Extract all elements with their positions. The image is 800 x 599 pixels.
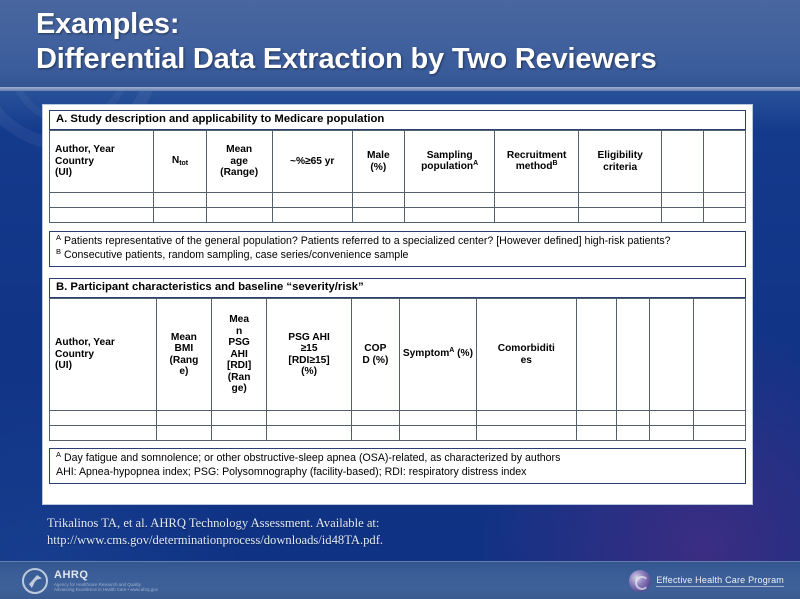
table-b-header-row: Author, Year Country (UI) Mean BMI (Rang… xyxy=(50,299,746,411)
hdr-line: Author, Year xyxy=(55,144,115,155)
table-cell xyxy=(352,193,404,208)
table-cell xyxy=(351,411,399,426)
hdr-text: Symptom xyxy=(403,348,449,359)
hdr-superscript: A xyxy=(473,160,478,167)
table-cell xyxy=(154,193,206,208)
table-a-footnotes: A Patients representative of the general… xyxy=(49,231,746,267)
table-cell xyxy=(267,411,352,426)
table-a-col-mean-age: Mean age (Range) xyxy=(206,131,272,193)
hdr-line: (UI) xyxy=(55,360,72,371)
hdr-line: (Rang xyxy=(169,355,198,366)
hdr-line: (%) xyxy=(370,162,386,173)
table-b-col-mean-psg-ahi: Mea n PSG AHI [RDI] (Ran ge) xyxy=(212,299,267,411)
table-a-col-blank-1 xyxy=(662,131,704,193)
table-row xyxy=(50,411,746,426)
table-a-section-title: A. Study description and applicability t… xyxy=(49,110,746,130)
hdr-line: D (%) xyxy=(362,355,388,366)
hdr-line: Country xyxy=(55,349,94,360)
table-cell xyxy=(272,193,352,208)
table-cell xyxy=(50,411,157,426)
table-a-col-male: Male (%) xyxy=(352,131,404,193)
footer-bar: AHRQ Agency for Healthcare Research and … xyxy=(0,561,800,599)
table-cell xyxy=(650,411,694,426)
table-cell xyxy=(477,411,576,426)
hdr-line: ge) xyxy=(231,383,246,394)
table-row xyxy=(50,208,746,223)
hdr-line: (UI) xyxy=(55,167,72,178)
effective-health-care-logo: Effective Health Care Program xyxy=(629,570,784,592)
footnote-marker: A xyxy=(56,450,61,459)
table-a-col-recruitment-method: Recruitment methodB xyxy=(495,131,579,193)
table-cell xyxy=(495,208,579,223)
table-cell xyxy=(212,411,267,426)
table-cell xyxy=(212,426,267,441)
hdr-line: e) xyxy=(179,366,188,377)
hdr-line: Comorbiditi xyxy=(498,343,555,354)
table-a: Author, Year Country (UI) Ntot Mean age … xyxy=(49,130,746,223)
table-cell xyxy=(404,208,494,223)
hdr-line: Mean xyxy=(226,144,252,155)
table-cell xyxy=(404,193,494,208)
table-b-col-blank-4 xyxy=(694,299,746,411)
hdr-line: Author, Year xyxy=(55,337,115,348)
hdr-line: n xyxy=(236,326,242,337)
hdr-line: Eligibility xyxy=(598,150,643,161)
table-cell xyxy=(206,193,272,208)
hdr-line: Male xyxy=(367,150,390,161)
table-a-col-pct-65: ~%≥65 yr xyxy=(272,131,352,193)
hdr-line: method xyxy=(516,161,553,172)
table-cell xyxy=(267,426,352,441)
footnote-a: A Day fatigue and somnolence; or other o… xyxy=(56,452,740,466)
table-cell xyxy=(704,208,746,223)
footnote-text: Patients representative of the general p… xyxy=(64,235,671,247)
footnote-text: Day fatigue and somnolence; or other obs… xyxy=(64,452,560,464)
page-title: Examples: Differential Data Extraction b… xyxy=(36,7,657,77)
hdr-superscript: B xyxy=(553,160,558,167)
slide-title-band: Examples: Differential Data Extraction b… xyxy=(0,0,800,91)
table-cell xyxy=(662,208,704,223)
table-b-col-copd: COP D (%) xyxy=(351,299,399,411)
ahrq-logo-name: AHRQ xyxy=(54,570,158,581)
table-a-col-blank-2 xyxy=(704,131,746,193)
table-cell xyxy=(578,193,662,208)
ahrq-logo-tagline: Agency for Healthcare Research and Quali… xyxy=(54,582,158,593)
table-a-header-row: Author, Year Country (UI) Ntot Mean age … xyxy=(50,131,746,193)
table-cell xyxy=(617,426,650,441)
citation: Trikalinos TA, et al. AHRQ Technology As… xyxy=(47,515,687,548)
table-cell xyxy=(156,426,211,441)
table-a-col-author: Author, Year Country (UI) xyxy=(50,131,154,193)
hdr-line: COP xyxy=(364,343,386,354)
table-row xyxy=(50,193,746,208)
table-cell xyxy=(399,411,476,426)
table-cell xyxy=(206,208,272,223)
table-cell xyxy=(578,208,662,223)
table-b-col-comorbidities: Comorbiditi es xyxy=(477,299,576,411)
ehc-logo-name: Effective Health Care Program xyxy=(656,575,784,587)
table-cell xyxy=(477,426,576,441)
footnote-a: A Patients representative of the general… xyxy=(56,235,740,249)
footnote-text: Consecutive patients, random sampling, c… xyxy=(64,249,408,261)
table-cell xyxy=(495,193,579,208)
table-cell xyxy=(617,411,650,426)
hdr-line: population xyxy=(421,161,473,172)
hdr-line: [RDI] xyxy=(227,360,251,371)
table-cell xyxy=(156,411,211,426)
table-cell xyxy=(650,426,694,441)
ehc-swirl-icon xyxy=(629,570,651,592)
hdr-line: (Ran xyxy=(228,372,251,383)
table-cell xyxy=(272,208,352,223)
hdr-line: (%) xyxy=(301,366,317,377)
footnote-marker: B xyxy=(56,247,61,256)
hdr-line: ≥15 xyxy=(301,343,318,354)
footnote-marker: A xyxy=(56,233,61,242)
table-cell xyxy=(694,411,746,426)
table-cell xyxy=(351,426,399,441)
hdr-line: BMI xyxy=(175,343,194,354)
table-a-col-eligibility-criteria: Eligibility criteria xyxy=(578,131,662,193)
table-b-col-author: Author, Year Country (UI) xyxy=(50,299,157,411)
hdr-line: PSG xyxy=(228,337,250,348)
table-cell xyxy=(154,208,206,223)
footnote-b: B Consecutive patients, random sampling,… xyxy=(56,249,740,263)
table-a-col-n-total: Ntot xyxy=(154,131,206,193)
ahrq-logo: AHRQ Agency for Healthcare Research and … xyxy=(22,568,158,594)
hdr-line: criteria xyxy=(603,162,637,173)
table-cell xyxy=(399,426,476,441)
ahrq-emblem-icon xyxy=(22,568,48,594)
footnote-abbreviations: AHI: Apnea-hypopnea index; PSG: Polysomn… xyxy=(56,466,740,480)
hdr-line: Sampling xyxy=(427,150,473,161)
table-b-section-title: B. Participant characteristics and basel… xyxy=(49,278,746,298)
table-b: Author, Year Country (UI) Mean BMI (Rang… xyxy=(49,298,746,441)
table-b-col-psg-ahi-15: PSG AHI ≥15 [RDI≥15] (%) xyxy=(267,299,352,411)
content-panel: A. Study description and applicability t… xyxy=(42,104,753,505)
table-cell xyxy=(352,208,404,223)
table-b-col-mean-bmi: Mean BMI (Rang e) xyxy=(156,299,211,411)
hdr-line: Mean xyxy=(171,332,197,343)
table-cell xyxy=(576,411,616,426)
table-cell xyxy=(50,208,154,223)
table-cell xyxy=(576,426,616,441)
hdr-line: Mea xyxy=(229,314,249,325)
table-b-col-blank-3 xyxy=(650,299,694,411)
hdr-line: Country xyxy=(55,156,94,167)
table-cell xyxy=(50,193,154,208)
table-row xyxy=(50,426,746,441)
hdr-line: age xyxy=(230,156,248,167)
table-cell xyxy=(694,426,746,441)
table-cell xyxy=(704,193,746,208)
hdr-line: Recruitment xyxy=(507,150,566,161)
hdr-line: PSG AHI xyxy=(288,332,330,343)
hdr-line: [RDI≥15] xyxy=(288,355,329,366)
table-b-col-symptoms: SymptomA (%) xyxy=(399,299,476,411)
hdr-line: es xyxy=(521,355,532,366)
hdr-text: (%) xyxy=(454,348,473,359)
table-cell xyxy=(662,193,704,208)
hdr-subscript: tot xyxy=(179,160,188,167)
table-b-footnotes: A Day fatigue and somnolence; or other o… xyxy=(49,448,746,484)
table-a-col-sampling-population: Sampling populationA xyxy=(404,131,494,193)
hdr-superscript: A xyxy=(449,347,454,354)
table-cell xyxy=(50,426,157,441)
hdr-line: (Range) xyxy=(220,167,258,178)
hdr-line: AHI xyxy=(230,349,248,360)
table-b-col-blank-2 xyxy=(617,299,650,411)
table-b-col-blank-1 xyxy=(576,299,616,411)
